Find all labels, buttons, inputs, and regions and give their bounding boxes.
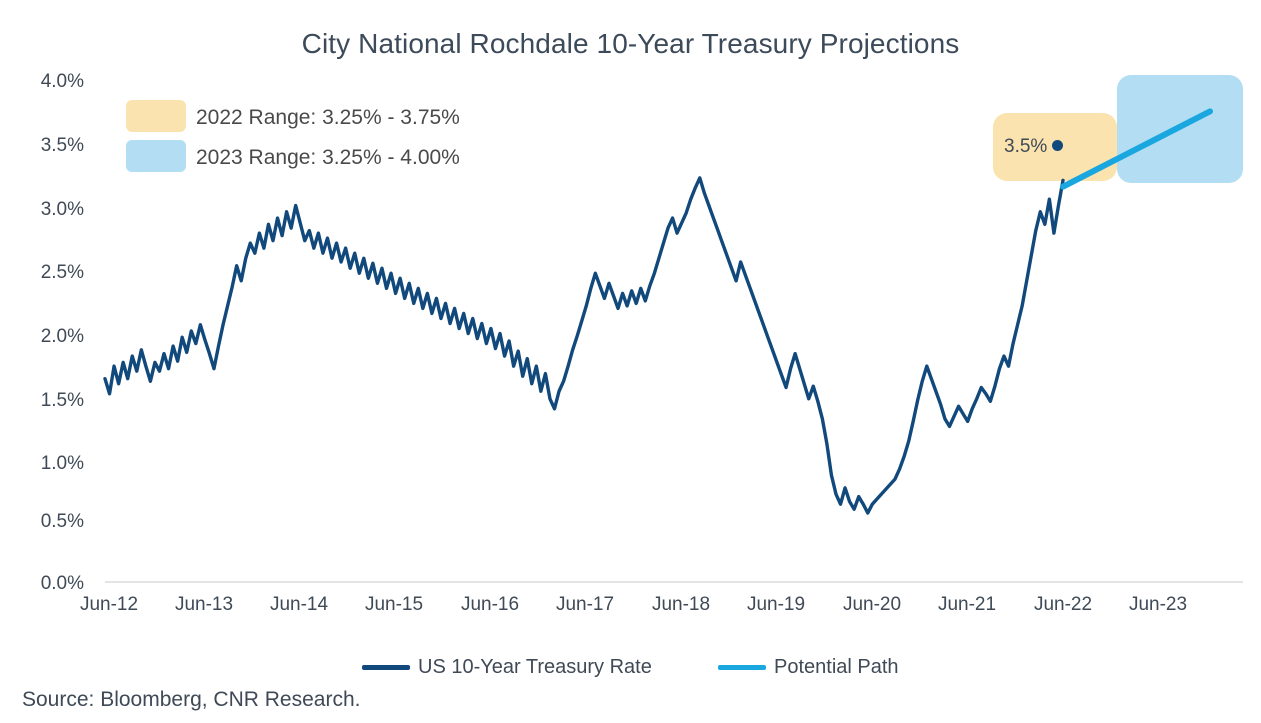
source-note: Source: Bloomberg, CNR Research.: [22, 688, 360, 712]
potential-path-line: [1063, 111, 1210, 186]
plot-area: [0, 0, 1261, 723]
legend-item-path: Potential Path: [718, 656, 899, 679]
legend-dash-path: [718, 665, 766, 670]
rate-line-path: [105, 178, 1063, 513]
legend-label-path: Potential Path: [774, 656, 899, 679]
legend-dash-rate: [362, 665, 410, 670]
legend-item-rate: US 10-Year Treasury Rate: [362, 656, 652, 679]
chart-container: City National Rochdale 10-Year Treasury …: [0, 0, 1261, 723]
legend-label-rate: US 10-Year Treasury Rate: [418, 656, 652, 679]
